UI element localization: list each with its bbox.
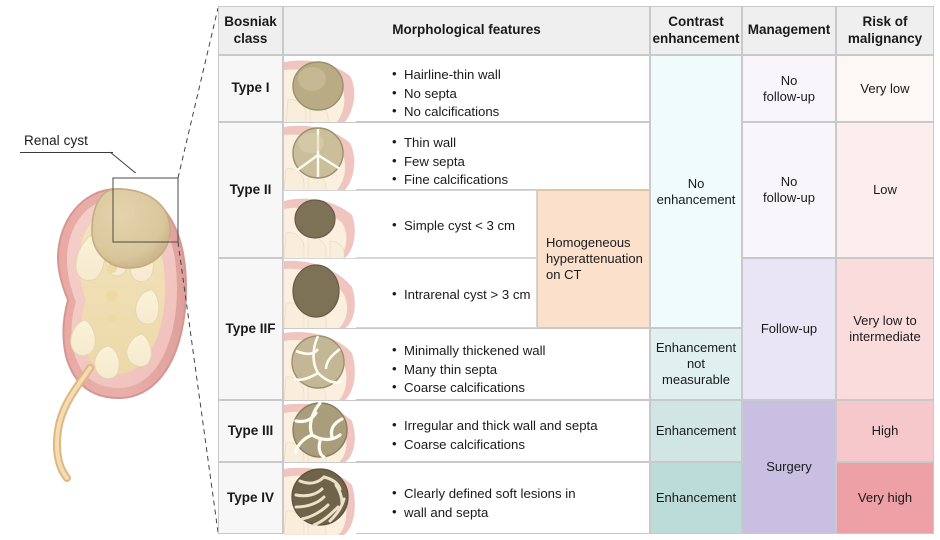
header-management: Management (742, 6, 836, 55)
mgmt-no-followup-1-line2: follow-up (763, 89, 815, 105)
risk-cell-type-2f: Very low to intermediate (836, 258, 934, 400)
header-bosniak-class-line2: class (224, 31, 277, 47)
kidney-illustration-panel: Renal cyst (0, 0, 218, 540)
hyperattenuation-line1: Homogeneous (546, 235, 643, 251)
bosniak-classification-table: Bosniak class Morphological features Con… (218, 6, 934, 534)
feature-item-cont: wall and septa (392, 504, 576, 523)
feature-list-type-2b: Simple cyst < 3 cm (392, 217, 515, 236)
feature-item: Coarse calcifications (392, 436, 598, 455)
features-cell-type-2a: Thin wall Few septa Fine calcifications (283, 122, 650, 190)
kidney-cross-section-illustration (0, 0, 218, 540)
header-bosniak-class-line1: Bosniak (224, 14, 277, 30)
feature-item: Many thin septa (392, 361, 545, 380)
feature-item: No calcifications (392, 103, 501, 122)
features-cell-type-1: Hairline-thin wall No septa No calcifica… (283, 55, 650, 122)
class-cell-type-2: Type II (218, 122, 283, 258)
features-cell-type-2f-b: Minimally thickened wall Many thin septa… (283, 328, 650, 400)
header-bosniak-class: Bosniak class (218, 6, 283, 55)
class-cell-type-2f: Type IIF (218, 258, 283, 400)
contrast-cell-enhancement-type-3: Enhancement (650, 400, 742, 462)
cyst-small-dense-icon (284, 191, 356, 259)
contrast-no-enh-line1: No (657, 176, 736, 192)
feature-item: Clearly defined soft lesions in (392, 485, 576, 504)
management-cell-surgery: Surgery (742, 400, 836, 534)
header-contrast-enhancement: Contrast enhancement (650, 6, 742, 55)
header-risk-of-malignancy: Risk of malignancy (836, 6, 934, 55)
header-risk-line2: malignancy (848, 31, 922, 47)
mgmt-no-followup-1-line1: No (763, 73, 815, 89)
feature-item: Coarse calcifications (392, 379, 545, 398)
risk-vlow-inter-line1: Very low to (849, 313, 921, 329)
features-cell-type-2b: Simple cyst < 3 cm (283, 190, 537, 258)
figure-root: Renal cyst (0, 0, 940, 540)
contrast-cell-enhancement-type-4: Enhancement (650, 462, 742, 534)
feature-item: Intrarenal cyst > 3 cm (392, 286, 530, 305)
feature-item: Minimally thickened wall (392, 342, 545, 361)
risk-vlow-inter-line2: intermediate (849, 329, 921, 345)
hyperattenuation-line2: hyperattenuation (546, 251, 643, 267)
header-contrast-line2: enhancement (652, 31, 739, 47)
feature-item: Simple cyst < 3 cm (392, 217, 515, 236)
management-cell-type-2f: Follow-up (742, 258, 836, 400)
mgmt-no-followup-2-line2: follow-up (763, 190, 815, 206)
contrast-not-meas-line3: measurable (656, 372, 736, 388)
risk-cell-type-3: High (836, 400, 934, 462)
feature-item: No septa (392, 85, 501, 104)
management-cell-type-2: No follow-up (742, 122, 836, 258)
risk-cell-type-2: Low (836, 122, 934, 258)
feature-list-type-3: Irregular and thick wall and septa Coars… (392, 417, 598, 454)
feature-list-type-4: Clearly defined soft lesions in wall and… (392, 485, 576, 522)
risk-cell-type-4: Very high (836, 462, 934, 534)
cyst-thick-septa-icon (284, 401, 356, 463)
risk-cell-type-1: Very low (836, 55, 934, 122)
feature-item: Fine calcifications (392, 171, 508, 190)
features-cell-type-4: Clearly defined soft lesions in wall and… (283, 462, 650, 534)
feature-item: Few septa (392, 153, 508, 172)
feature-item: Thin wall (392, 134, 508, 153)
header-contrast-line1: Contrast (652, 14, 739, 30)
features-cell-type-3: Irregular and thick wall and septa Coars… (283, 400, 650, 462)
cyst-intrarenal-dense-icon (284, 259, 356, 329)
contrast-not-meas-line1: Enhancement (656, 340, 736, 356)
cyst-few-septa-icon (284, 123, 356, 191)
mgmt-no-followup-2-line1: No (763, 174, 815, 190)
contrast-cell-no-enhancement: No enhancement (650, 55, 742, 328)
feature-list-type-2f-b: Minimally thickened wall Many thin septa… (392, 342, 545, 398)
features-cell-type-2f-a: Intrarenal cyst > 3 cm (283, 258, 537, 328)
class-cell-type-3: Type III (218, 400, 283, 462)
feature-list-type-2f-a: Intrarenal cyst > 3 cm (392, 286, 530, 305)
feature-list-type-2a: Thin wall Few septa Fine calcifications (392, 134, 508, 190)
feature-item: Hairline-thin wall (392, 66, 501, 85)
class-cell-type-1: Type I (218, 55, 283, 122)
management-cell-type-1: No follow-up (742, 55, 836, 122)
hyperattenuation-line3: on CT (546, 267, 643, 283)
contrast-no-enh-line2: enhancement (657, 192, 736, 208)
header-risk-line1: Risk of (848, 14, 922, 30)
header-morphological-features: Morphological features (283, 6, 650, 55)
cyst-simple-smooth-icon (284, 56, 356, 123)
feature-list-type-1: Hairline-thin wall No septa No calcifica… (392, 66, 501, 122)
cyst-soft-lesions-icon (284, 463, 356, 535)
feature-item: Irregular and thick wall and septa (392, 417, 598, 436)
contrast-not-meas-line2: not (656, 356, 736, 372)
contrast-cell-not-measurable: Enhancement not measurable (650, 328, 742, 400)
cyst-many-septa-icon (284, 329, 356, 401)
class-cell-type-4: Type IV (218, 462, 283, 534)
hyperattenuation-note-cell: Homogeneous hyperattenuation on CT (537, 190, 650, 328)
